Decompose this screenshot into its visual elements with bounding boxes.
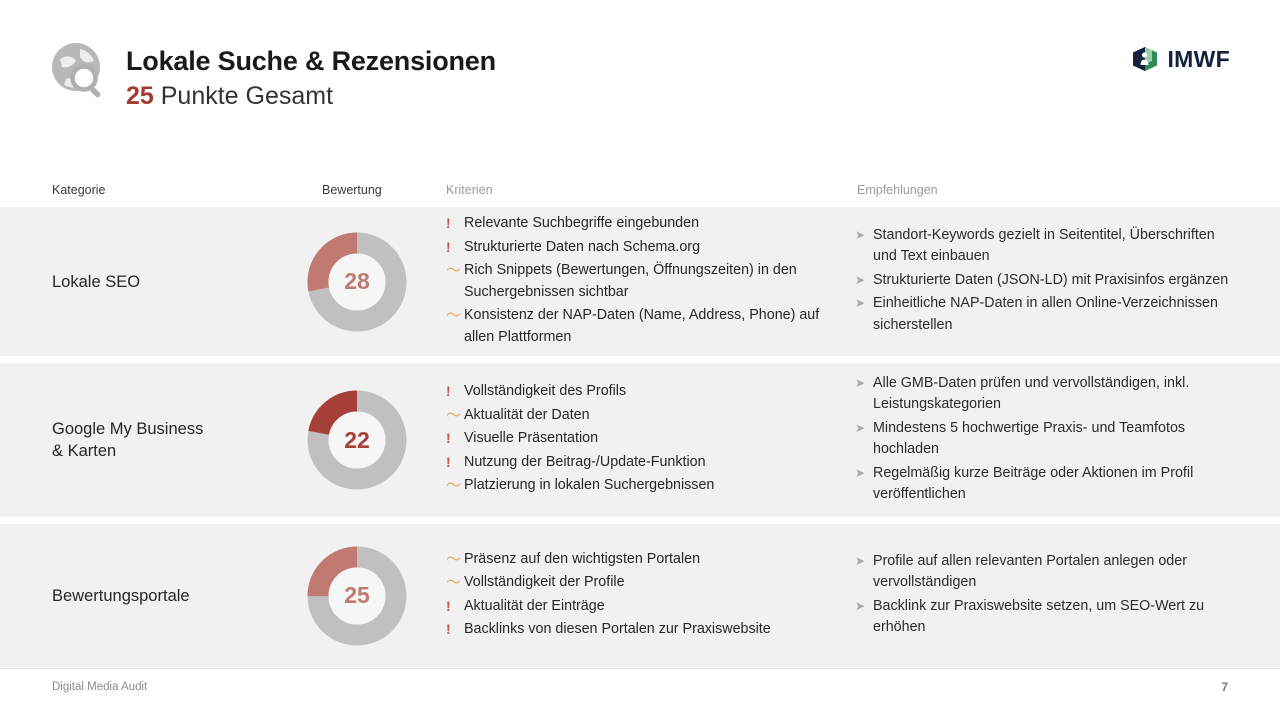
column-header-criteria: Kriterien (446, 183, 493, 197)
row-recommendations-list: ➤Alle GMB-Daten prüfen und vervollständi… (855, 373, 1230, 508)
list-item-text: Backlinks von diesen Portalen zur Praxis… (464, 619, 771, 641)
row-category-line1: Bewertungsportale (52, 587, 190, 605)
warning-marker-icon: ! (446, 596, 464, 618)
list-item-text: Alle GMB-Daten prüfen und vervollständig… (873, 373, 1230, 416)
list-item-text: Nutzung der Beitrag-/Update-Funktion (464, 452, 706, 474)
column-header-recommendations: Empfehlungen (857, 183, 938, 197)
arrow-marker-icon: ➤ (855, 373, 873, 395)
list-item-text: Konsistenz der NAP-Daten (Name, Address,… (464, 305, 826, 348)
list-item: 〜Konsistenz der NAP-Daten (Name, Address… (446, 305, 826, 348)
warning-marker-icon: ! (446, 452, 464, 474)
tilde-marker-icon: 〜 (446, 475, 464, 497)
title-block: Lokale Suche & Rezensionen 25 Punkte Ges… (126, 44, 496, 112)
score-value: 22 (307, 390, 407, 490)
list-item: ➤Einheitliche NAP-Daten in allen Online-… (855, 293, 1230, 336)
list-item-text: Standort-Keywords gezielt in Seitentitel… (873, 225, 1230, 268)
list-item: 〜Vollständigkeit der Profile (446, 572, 826, 594)
list-item-text: Einheitliche NAP-Daten in allen Online-V… (873, 293, 1230, 336)
list-item: !Backlinks von diesen Portalen zur Praxi… (446, 619, 826, 641)
tilde-marker-icon: 〜 (446, 572, 464, 594)
row-criteria-list: !Relevante Suchbegriffe eingebunden!Stru… (446, 213, 826, 350)
row-category-line2: & Karten (52, 440, 302, 462)
list-item-text: Platzierung in lokalen Suchergebnissen (464, 475, 714, 497)
audit-rows: Lokale SEO28!Relevante Suchbegriffe eing… (0, 207, 1280, 674)
tilde-marker-icon: 〜 (446, 405, 464, 427)
row-category-line1: Lokale SEO (52, 273, 140, 291)
list-item: 〜Rich Snippets (Bewertungen, Öffnungszei… (446, 260, 826, 303)
warning-marker-icon: ! (446, 428, 464, 450)
row-category: Bewertungsportale (52, 585, 302, 607)
points-subtitle: 25 Punkte Gesamt (126, 80, 496, 112)
page-title: Lokale Suche & Rezensionen (126, 44, 496, 78)
audit-row: Lokale SEO28!Relevante Suchbegriffe eing… (0, 207, 1280, 356)
column-header-rating: Bewertung (322, 183, 382, 197)
score-value: 28 (307, 232, 407, 332)
list-item: !Relevante Suchbegriffe eingebunden (446, 213, 826, 235)
list-item: !Aktualität der Einträge (446, 596, 826, 618)
imwf-cube-icon (1130, 44, 1160, 74)
list-item-text: Rich Snippets (Bewertungen, Öffnungszeit… (464, 260, 826, 303)
tilde-marker-icon: 〜 (446, 549, 464, 571)
footer-label: Digital Media Audit (52, 681, 147, 693)
points-label: Punkte Gesamt (154, 82, 333, 110)
brand-name: IMWF (1167, 46, 1230, 73)
list-item-text: Visuelle Präsentation (464, 428, 598, 450)
list-item-text: Aktualität der Daten (464, 405, 590, 427)
list-item-text: Relevante Suchbegriffe eingebunden (464, 213, 699, 235)
audit-row: Google My Business& Karten22!Vollständig… (0, 363, 1280, 517)
list-item-text: Strukturierte Daten nach Schema.org (464, 237, 700, 259)
list-item: !Nutzung der Beitrag-/Update-Funktion (446, 452, 826, 474)
tilde-marker-icon: 〜 (446, 305, 464, 327)
row-recommendations-list: ➤Standort-Keywords gezielt in Seitentite… (855, 225, 1230, 339)
list-item: ➤Backlink zur Praxiswebsite setzen, um S… (855, 596, 1230, 639)
score-donut: 22 (307, 390, 407, 490)
arrow-marker-icon: ➤ (855, 293, 873, 315)
page-number: 7 (1221, 680, 1228, 694)
row-category: Google My Business& Karten (52, 418, 302, 462)
slide: Lokale Suche & Rezensionen 25 Punkte Ges… (0, 0, 1280, 720)
row-category-line1: Google My Business (52, 420, 203, 438)
column-header-category: Kategorie (52, 183, 106, 197)
list-item: !Vollständigkeit des Profils (446, 381, 826, 403)
tilde-marker-icon: 〜 (446, 260, 464, 282)
score-value: 25 (307, 546, 407, 646)
list-item: !Strukturierte Daten nach Schema.org (446, 237, 826, 259)
warning-marker-icon: ! (446, 619, 464, 641)
arrow-marker-icon: ➤ (855, 463, 873, 485)
row-criteria-list: 〜Präsenz auf den wichtigsten Portalen〜Vo… (446, 549, 826, 643)
arrow-marker-icon: ➤ (855, 596, 873, 618)
globe-search-icon (50, 41, 108, 99)
list-item: ➤Strukturierte Daten (JSON-LD) mit Praxi… (855, 270, 1230, 292)
row-recommendations-list: ➤Profile auf allen relevanten Portalen a… (855, 551, 1230, 641)
row-category: Lokale SEO (52, 271, 302, 293)
list-item: ➤Alle GMB-Daten prüfen und vervollständi… (855, 373, 1230, 416)
list-item-text: Aktualität der Einträge (464, 596, 605, 618)
list-item: ➤Mindestens 5 hochwertige Praxis- und Te… (855, 418, 1230, 461)
audit-row: Bewertungsportale25〜Präsenz auf den wich… (0, 524, 1280, 667)
slide-header: Lokale Suche & Rezensionen 25 Punkte Ges… (0, 0, 1280, 150)
list-item: ➤Profile auf allen relevanten Portalen a… (855, 551, 1230, 594)
list-item-text: Präsenz auf den wichtigsten Portalen (464, 549, 700, 571)
list-item-text: Regelmäßig kurze Beiträge oder Aktionen … (873, 463, 1230, 506)
list-item: !Visuelle Präsentation (446, 428, 826, 450)
list-item: 〜Platzierung in lokalen Suchergebnissen (446, 475, 826, 497)
warning-marker-icon: ! (446, 213, 464, 235)
list-item: ➤Standort-Keywords gezielt in Seitentite… (855, 225, 1230, 268)
score-donut: 25 (307, 546, 407, 646)
list-item-text: Vollständigkeit der Profile (464, 572, 625, 594)
brand-logo: IMWF (1130, 44, 1230, 74)
arrow-marker-icon: ➤ (855, 551, 873, 573)
list-item-text: Profile auf allen relevanten Portalen an… (873, 551, 1230, 594)
row-criteria-list: !Vollständigkeit des Profils〜Aktualität … (446, 381, 826, 499)
list-item-text: Backlink zur Praxiswebsite setzen, um SE… (873, 596, 1230, 639)
list-item: ➤Regelmäßig kurze Beiträge oder Aktionen… (855, 463, 1230, 506)
list-item: 〜Aktualität der Daten (446, 405, 826, 427)
arrow-marker-icon: ➤ (855, 270, 873, 292)
arrow-marker-icon: ➤ (855, 418, 873, 440)
warning-marker-icon: ! (446, 381, 464, 403)
score-donut: 28 (307, 232, 407, 332)
list-item-text: Vollständigkeit des Profils (464, 381, 626, 403)
list-item: 〜Präsenz auf den wichtigsten Portalen (446, 549, 826, 571)
footer-divider (0, 668, 1280, 669)
list-item-text: Strukturierte Daten (JSON-LD) mit Praxis… (873, 270, 1228, 292)
list-item-text: Mindestens 5 hochwertige Praxis- und Tea… (873, 418, 1230, 461)
arrow-marker-icon: ➤ (855, 225, 873, 247)
points-value: 25 (126, 82, 154, 110)
warning-marker-icon: ! (446, 237, 464, 259)
column-headers: Kategorie Bewertung Kriterien Empfehlung… (0, 183, 1280, 205)
